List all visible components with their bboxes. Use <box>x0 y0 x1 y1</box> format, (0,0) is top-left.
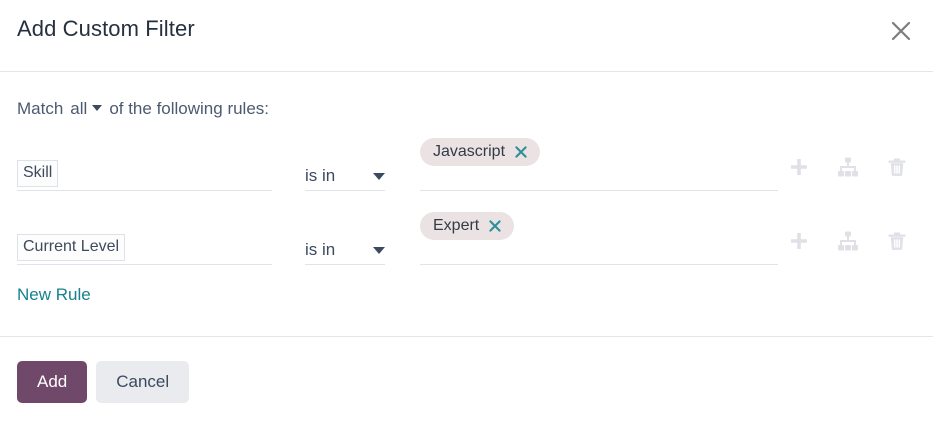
rule-actions <box>786 154 910 180</box>
page-title: Add Custom Filter <box>17 16 195 42</box>
rule-operator-value: is in <box>305 166 335 186</box>
rule-value-input[interactable]: Expert <box>420 212 778 265</box>
value-chip[interactable]: Expert <box>420 212 514 240</box>
close-icon[interactable] <box>488 219 502 233</box>
rule-operator-value: is in <box>305 240 335 260</box>
add-rule-icon[interactable] <box>786 228 812 254</box>
value-chip-label: Expert <box>433 216 479 235</box>
dialog-header: Add Custom Filter <box>0 0 933 72</box>
rule-field-input[interactable]: Skill <box>17 155 272 191</box>
rule-actions <box>786 228 910 254</box>
match-mode-value: all <box>70 99 87 119</box>
chevron-down-icon <box>92 105 102 111</box>
chevron-down-icon <box>373 247 385 254</box>
add-custom-filter-dialog: Add Custom Filter Match all of the follo… <box>0 0 933 426</box>
match-suffix-label: of the following rules: <box>109 99 269 119</box>
add-group-icon[interactable] <box>835 154 861 180</box>
rule-operator-select[interactable]: is in <box>305 155 385 191</box>
close-icon[interactable] <box>514 145 528 159</box>
match-mode-select[interactable]: all <box>70 99 102 119</box>
close-icon <box>888 18 914 44</box>
chevron-down-icon <box>373 173 385 180</box>
new-rule-button[interactable]: New Rule <box>17 285 91 305</box>
match-mode-line: Match all of the following rules: <box>17 99 269 119</box>
add-rule-icon[interactable] <box>786 154 812 180</box>
rule-row: Current Level is in Expert <box>0 202 933 276</box>
value-chip-label: Javascript <box>433 142 505 161</box>
add-button[interactable]: Add <box>17 361 87 403</box>
add-group-icon[interactable] <box>835 228 861 254</box>
dialog-body: Match all of the following rules: Skill … <box>0 72 933 336</box>
rules-list: Skill is in Javascript <box>0 128 933 276</box>
delete-rule-icon[interactable] <box>884 228 910 254</box>
rule-field-value: Current Level <box>17 234 125 261</box>
rule-row: Skill is in Javascript <box>0 128 933 202</box>
rule-value-input[interactable]: Javascript <box>420 138 778 191</box>
dialog-footer: Add Cancel <box>0 336 933 426</box>
match-prefix-label: Match <box>17 99 63 119</box>
value-chip[interactable]: Javascript <box>420 138 540 166</box>
rule-field-value: Skill <box>17 160 58 187</box>
delete-rule-icon[interactable] <box>884 154 910 180</box>
rule-field-input[interactable]: Current Level <box>17 229 272 265</box>
cancel-button[interactable]: Cancel <box>96 361 189 403</box>
close-button[interactable] <box>883 13 919 49</box>
rule-operator-select[interactable]: is in <box>305 229 385 265</box>
